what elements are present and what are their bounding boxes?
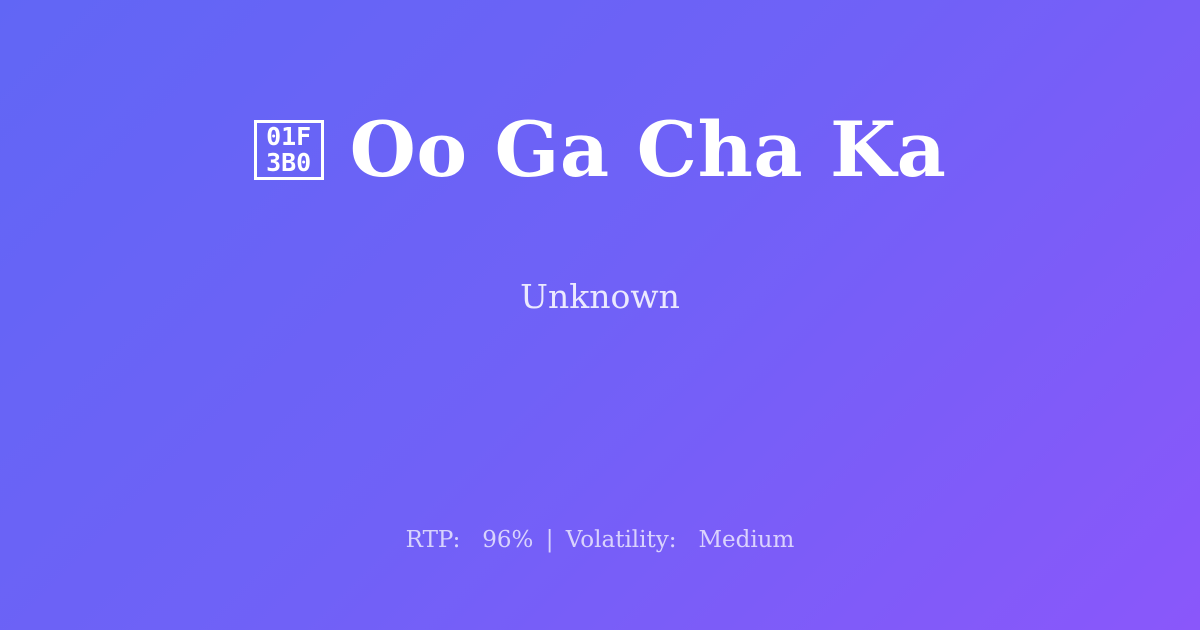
codepoint-row-lower: 3B0 xyxy=(266,150,311,176)
rtp-value: 96% xyxy=(482,527,533,553)
game-title: Oo Ga Cha Ka xyxy=(350,112,947,188)
volatility-label: Volatility: xyxy=(566,527,677,553)
stats-separator: | xyxy=(541,527,559,553)
title-line: 01F 3B0 Oo Ga Cha Ka xyxy=(254,61,947,239)
rtp-label: RTP: xyxy=(406,527,461,553)
volatility-value: Medium xyxy=(698,527,794,553)
game-preview-card: 01F 3B0 Oo Ga Cha Ka Unknown RTP: 96% | … xyxy=(0,0,1200,630)
game-stats-line: RTP: 96% | Volatility: Medium xyxy=(0,529,1200,552)
codepoint-row-upper: 01F xyxy=(266,124,311,150)
slot-machine-emoji-icon: 01F 3B0 xyxy=(254,120,324,180)
hero-block: 01F 3B0 Oo Ga Cha Ka Unknown xyxy=(0,0,1200,470)
game-provider: Unknown xyxy=(520,280,680,313)
